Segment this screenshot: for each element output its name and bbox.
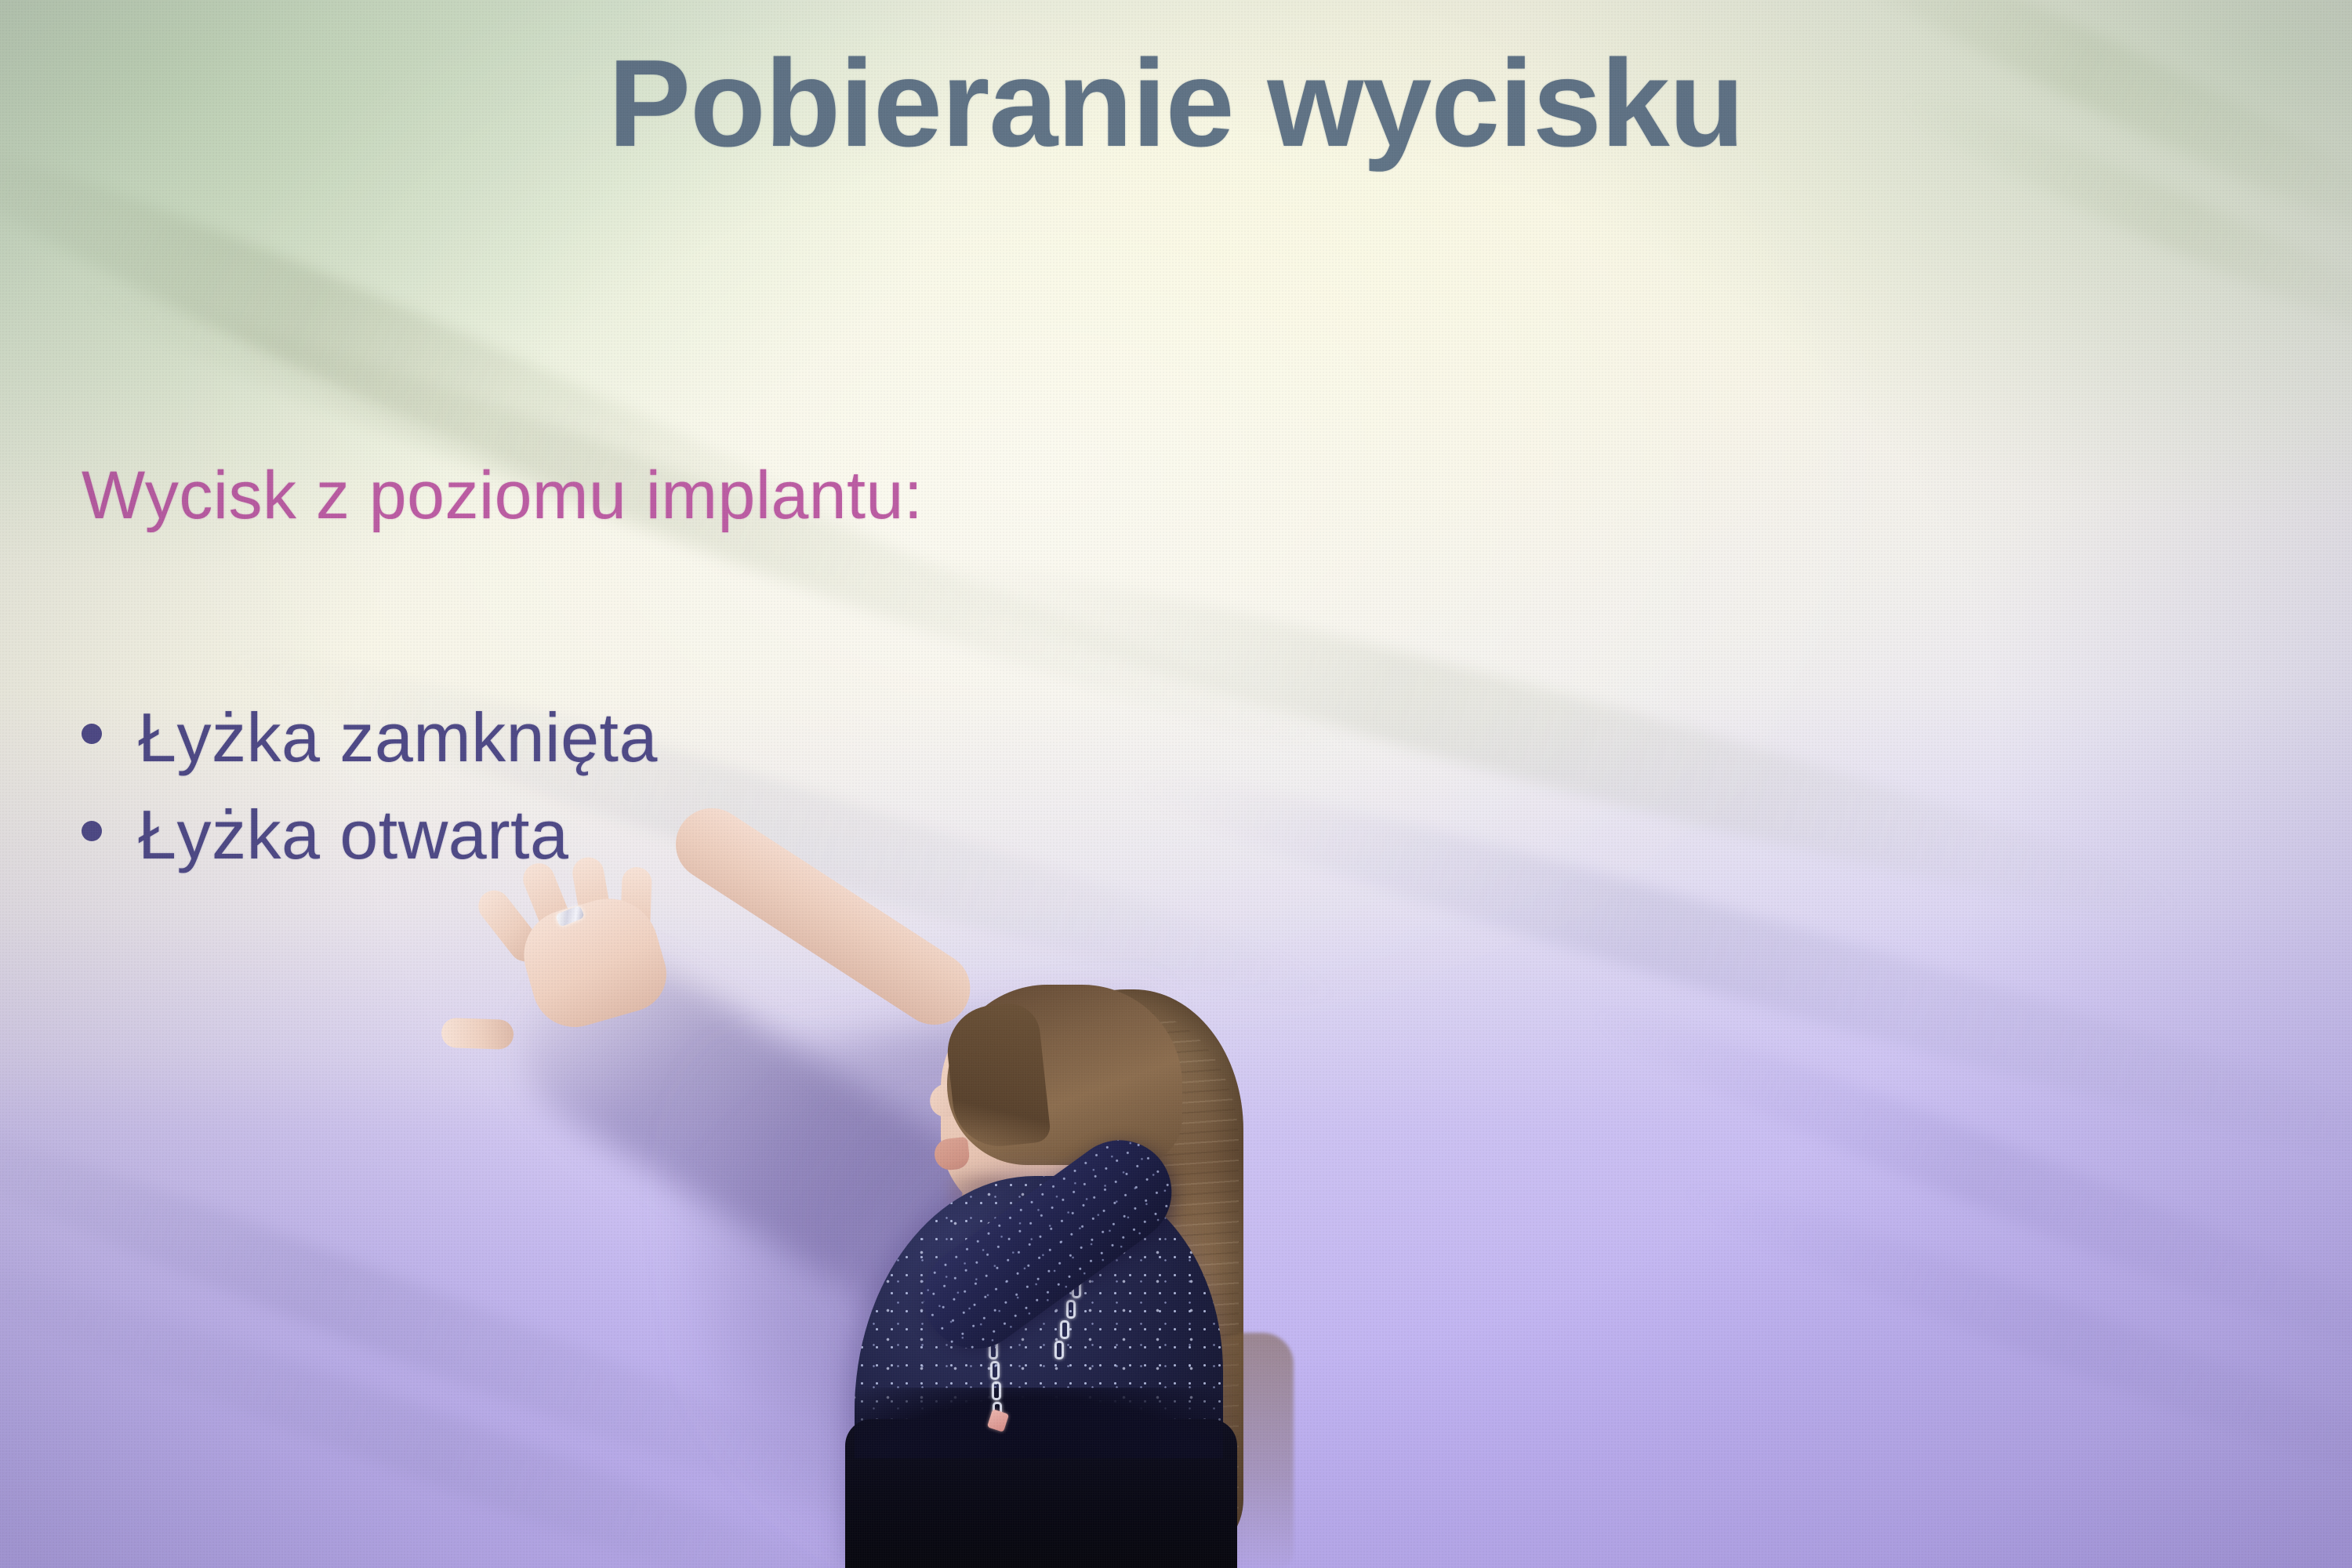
screenshot-stage: Pobieranie wycisku Wycisk z poziomu impl… xyxy=(0,0,2352,1568)
image-vignette xyxy=(0,0,2352,1568)
